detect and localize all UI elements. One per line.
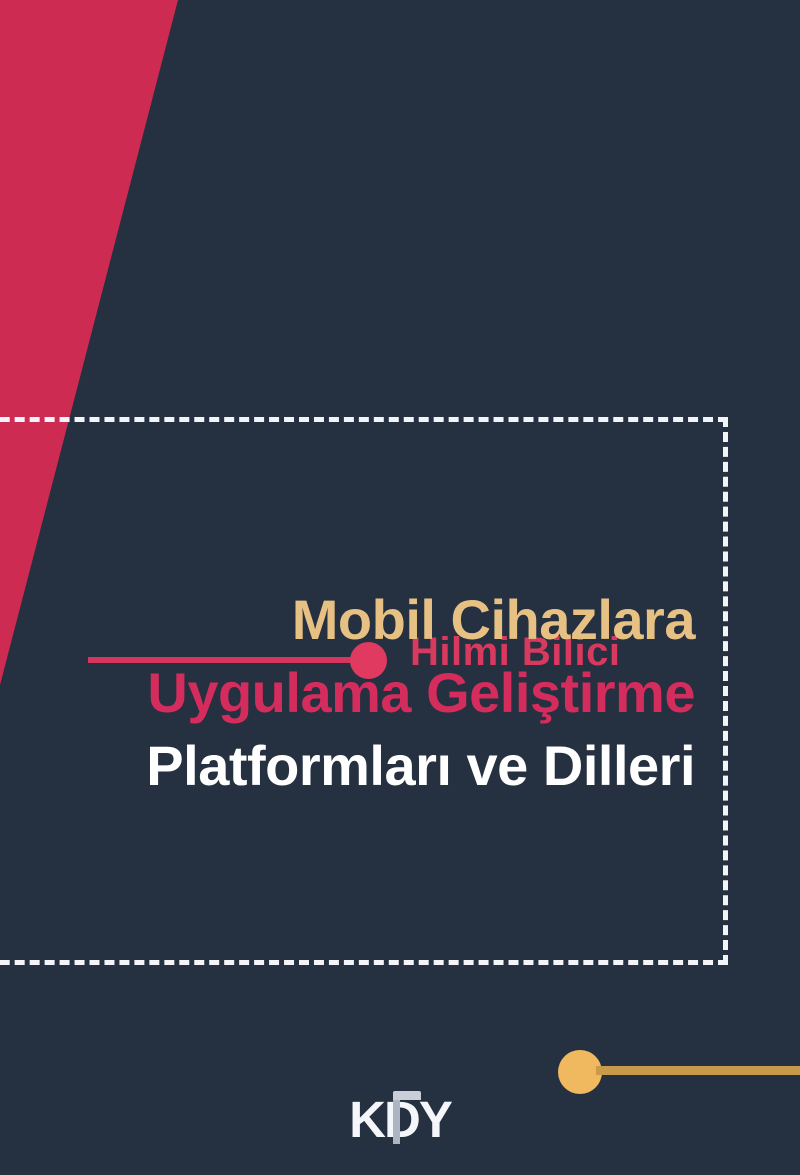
publisher-logo: KDY xyxy=(0,1089,800,1151)
book-title: Mobil Cihazlara Uygulama Geliştirme Plat… xyxy=(0,592,695,811)
author-block: Hilmi Bilici xyxy=(0,316,800,376)
book-icon-spine xyxy=(393,1100,400,1144)
title-line-2: Uygulama Geliştirme xyxy=(0,665,695,721)
book-icon-tab xyxy=(393,1091,421,1100)
book-cover: Hilmi Bilici Mobil Cihazlara Uygulama Ge… xyxy=(0,0,800,1175)
title-line-3: Platformları ve Dilleri xyxy=(0,738,695,794)
title-line-1: Mobil Cihazlara xyxy=(0,592,695,648)
publisher-logo-wrap: KDY xyxy=(349,1089,451,1151)
gold-accent-line xyxy=(596,1066,800,1075)
